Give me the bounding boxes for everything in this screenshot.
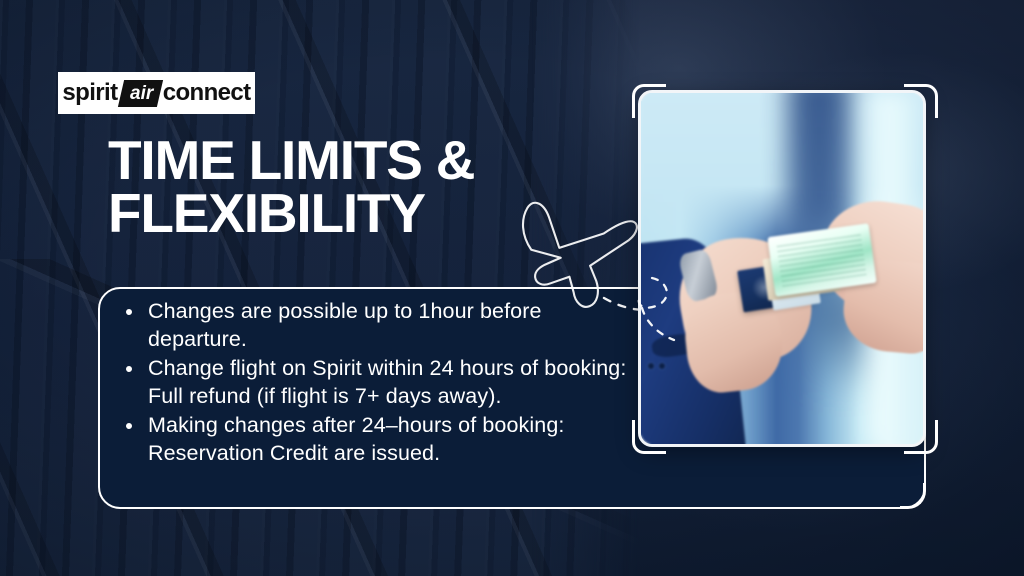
- page-title: TIME LIMITS & FLEXIBILITY: [108, 134, 474, 241]
- list-item-text: Changes are possible up to 1hour before …: [148, 299, 542, 351]
- bullet-dot-icon: [126, 366, 132, 372]
- page-title-line-2: FLEXIBILITY: [108, 187, 474, 240]
- dashed-flight-path: [612, 268, 702, 388]
- corner-bracket-top-right: [904, 84, 938, 118]
- corner-bracket-top-left: [632, 84, 666, 118]
- logo-badge-air: air: [117, 80, 162, 107]
- corner-bracket-bottom-left: [632, 420, 666, 454]
- list-item: Change flight on Spirit within 24 hours …: [120, 355, 640, 411]
- brand-logo: spirit air connect: [58, 72, 255, 114]
- logo-word-spirit: spirit: [62, 81, 117, 105]
- bullet-dot-icon: [126, 309, 132, 315]
- list-item-text: Making changes after 24–hours of booking…: [148, 413, 564, 465]
- list-item: Making changes after 24–hours of booking…: [120, 412, 640, 468]
- bullet-dot-icon: [126, 423, 132, 429]
- bullet-list: Changes are possible up to 1hour before …: [120, 298, 640, 469]
- logo-word-connect: connect: [163, 81, 251, 105]
- slide-canvas: spirit air connect TIME LIMITS & FLEXIBI…: [0, 0, 1024, 576]
- list-item-text: Change flight on Spirit within 24 hours …: [148, 356, 626, 408]
- corner-bracket-bottom-right: [904, 420, 938, 454]
